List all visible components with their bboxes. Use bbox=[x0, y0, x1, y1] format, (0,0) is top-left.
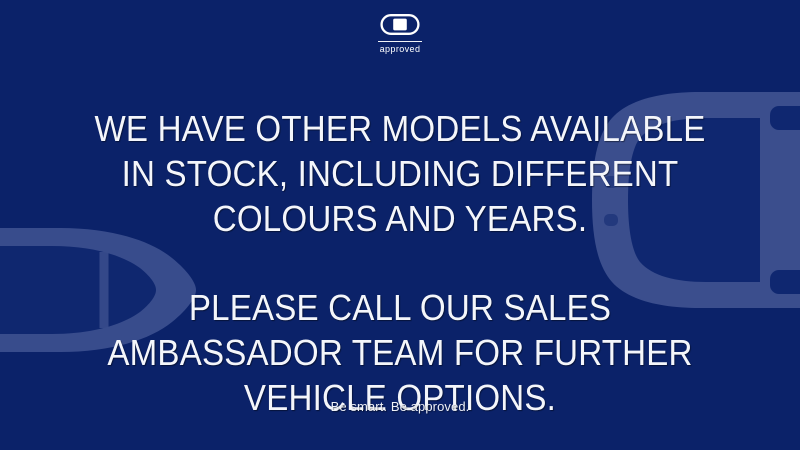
brand-logo: approved bbox=[0, 12, 800, 54]
message-area: WE HAVE OTHER MODELS AVAILABLE IN STOCK,… bbox=[46, 106, 754, 420]
tagline: Be smart. Be approved. bbox=[0, 399, 800, 414]
logo-wordmark: approved bbox=[380, 45, 421, 54]
headline-paragraph-1: WE HAVE OTHER MODELS AVAILABLE IN STOCK,… bbox=[74, 106, 725, 241]
promo-slide: approved WE HAVE OTHER MODELS AVAILABLE … bbox=[0, 0, 800, 450]
car-top-view-icon bbox=[380, 12, 420, 37]
logo-divider bbox=[378, 41, 422, 42]
